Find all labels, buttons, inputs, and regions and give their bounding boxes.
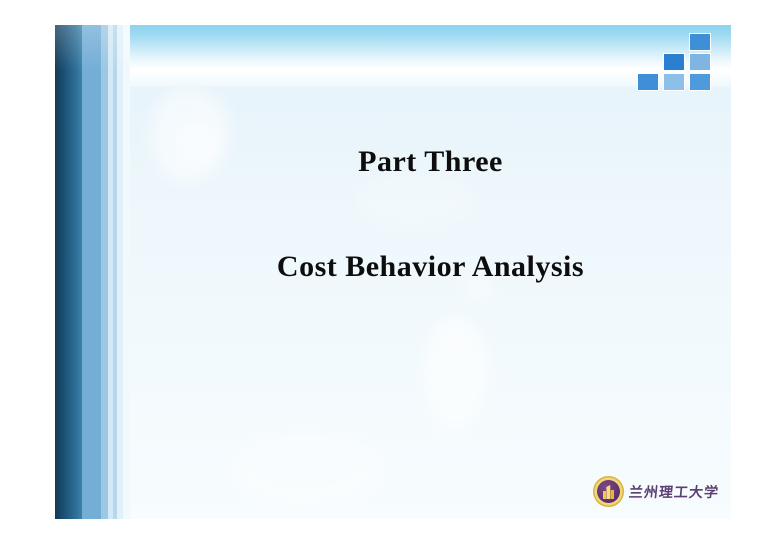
slide-header-fade [55,71,731,87]
left-decorative-bands [55,25,130,519]
university-emblem-icon [593,476,624,507]
square-row2-col3-icon [689,53,711,71]
building-icon [603,485,614,499]
band-near-white [123,25,130,519]
band-medium [82,25,101,519]
band-darkest [55,25,76,519]
page-title: Part Three [130,145,731,178]
slide-title-block: Part Three Cost Behavior Analysis [130,145,731,283]
decorative-squares-group [637,33,713,91]
slide-header-band [55,25,731,71]
square-row2-col2-icon [663,53,685,71]
university-name-label: 兰州理工大学 [628,482,720,502]
square-row3-col2-icon [663,73,685,91]
square-row3-col3-icon [689,73,711,91]
square-row3-col1-icon [637,73,659,91]
band-light [101,25,108,519]
presentation-slide: Part Three Cost Behavior Analysis 兰州理工大学 [55,25,731,519]
university-logo: 兰州理工大学 [593,476,719,507]
square-row1-col3-icon [689,33,711,51]
page-subtitle: Cost Behavior Analysis [130,250,731,283]
